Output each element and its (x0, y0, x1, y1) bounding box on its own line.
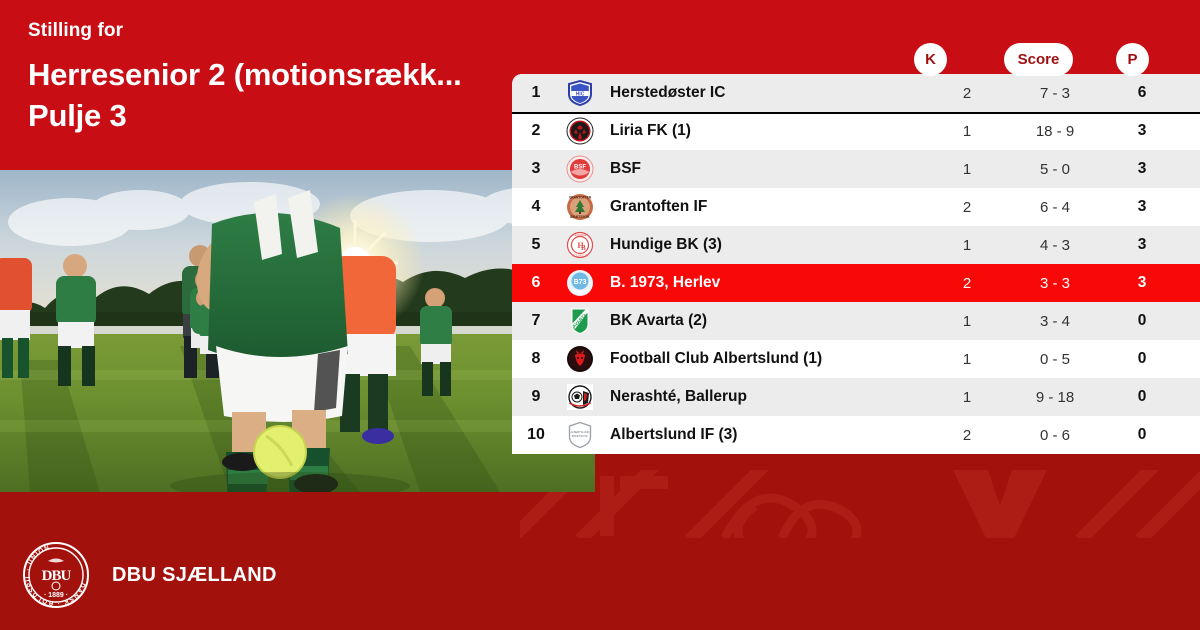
row-position: 3 (512, 160, 560, 178)
footer-bar: DANSK · BOLDSPIL · UNION · 1889 · DBU DB… (0, 520, 1200, 630)
bsf-crest-icon: BSF (560, 155, 600, 183)
column-header-p: P (1116, 43, 1149, 76)
row-points: 3 (1108, 198, 1176, 216)
headline-block: Stilling for Herresenior 2 (motionsrækk.… (28, 20, 548, 136)
football-match-photo (0, 170, 595, 492)
row-points: 0 (1108, 426, 1176, 444)
svg-text:HIC: HIC (576, 91, 585, 97)
page-title-line2: Pulje 3 (28, 95, 548, 136)
row-position: 9 (512, 388, 560, 406)
row-team-name: Hundige BK (3) (600, 236, 940, 254)
row-position: 4 (512, 198, 560, 216)
row-points: 3 (1108, 122, 1176, 140)
herstedoster-ic-crest-icon: HIC (560, 79, 600, 107)
row-score: 5 - 0 (1002, 161, 1108, 178)
row-team-name: Albertslund IF (3) (600, 426, 940, 444)
svg-text:IDRÆTSFOR.: IDRÆTSFOR. (572, 434, 589, 438)
footer-org-name: DBU SJÆLLAND (112, 564, 277, 587)
row-team-name: BK Avarta (2) (600, 312, 940, 330)
page-title-line1: Herresenior 2 (motionsrækk... (28, 54, 548, 95)
poster-canvas: Stilling for Herresenior 2 (motionsrækk.… (0, 0, 1200, 630)
row-matches: 2 (932, 199, 1002, 216)
row-score: 3 - 3 (1002, 275, 1108, 292)
row-matches: 1 (932, 313, 1002, 330)
kicker-text: Stilling for (28, 20, 548, 43)
svg-text:· 1889 ·: · 1889 · (44, 592, 68, 599)
row-points: 3 (1108, 274, 1176, 292)
row-points: 3 (1108, 160, 1176, 178)
row-position: 5 (512, 236, 560, 254)
table-row[interactable]: 1 HIC Herstedøster IC 2 7 - 3 6 (512, 74, 1200, 112)
svg-text:GRANTOFTEN: GRANTOFTEN (569, 196, 592, 200)
table-row[interactable]: 3 BSF BSF 1 5 - 0 3 (512, 150, 1200, 188)
row-team-name: Nerashté, Ballerup (600, 388, 940, 406)
table-row-highlighted[interactable]: 6 B73 B. 1973, Herlev 2 3 - 3 3 (512, 264, 1200, 302)
table-row[interactable]: 4 GRANTOFTEN IDRÆTSFOR. Grantoften IF 2 … (512, 188, 1200, 226)
svg-text:BOLDKLUB: BOLDKLUB (573, 254, 588, 258)
row-points: 3 (1108, 236, 1176, 254)
row-position: 10 (512, 426, 560, 444)
svg-text:IDRÆTSFOR.: IDRÆTSFOR. (570, 215, 590, 219)
row-score: 3 - 4 (1002, 313, 1108, 330)
row-matches: 1 (932, 161, 1002, 178)
row-score: 4 - 3 (1002, 237, 1108, 254)
dbu-logo-icon: DANSK · BOLDSPIL · UNION · 1889 · DBU (22, 541, 90, 609)
table-row[interactable]: 2 Liria FK (1) 1 18 - 9 3 (512, 112, 1200, 150)
table-row[interactable]: 5 H B HUNDIGE BOLDKLUB Hundige BK (3) 1 … (512, 226, 1200, 264)
liria-fk-crest-icon (560, 117, 600, 145)
albertslund-if-crest-icon: ALBERTSLUND IDRÆTSFOR. (560, 421, 600, 449)
table-row[interactable]: 10 ALBERTSLUND IDRÆTSFOR. Albertslund IF… (512, 416, 1200, 454)
row-team-name: Football Club Albertslund (1) (600, 350, 940, 368)
row-matches: 1 (932, 351, 1002, 368)
row-matches: 2 (932, 85, 1002, 102)
row-score: 9 - 18 (1002, 389, 1108, 406)
standings-table: 1 HIC Herstedøster IC 2 7 - 3 6 2 (512, 74, 1200, 454)
table-row[interactable]: 8 Football Club Albertslund (1) 1 0 - 5 … (512, 340, 1200, 378)
svg-text:B73: B73 (574, 279, 587, 286)
row-team-name: Grantoften IF (600, 198, 940, 216)
svg-text:HUNDIGE: HUNDIGE (574, 233, 587, 237)
table-row[interactable]: 7 AVARTA BK Avarta (2) 1 3 - 4 0 (512, 302, 1200, 340)
svg-text:B: B (581, 244, 586, 252)
row-team-name: Herstedøster IC (600, 84, 940, 102)
row-points: 0 (1108, 312, 1176, 330)
row-points: 0 (1108, 350, 1176, 368)
row-score: 0 - 6 (1002, 427, 1108, 444)
row-score: 0 - 5 (1002, 351, 1108, 368)
grantoften-if-crest-icon: GRANTOFTEN IDRÆTSFOR. (560, 193, 600, 221)
row-position: 7 (512, 312, 560, 330)
hundige-bk-crest-icon: H B HUNDIGE BOLDKLUB (560, 231, 600, 259)
row-score: 6 - 4 (1002, 199, 1108, 216)
row-matches: 1 (932, 237, 1002, 254)
row-matches: 1 (932, 123, 1002, 140)
table-row[interactable]: 9 Nerashté, Ballerup 1 9 - 18 0 (512, 378, 1200, 416)
row-matches: 2 (932, 275, 1002, 292)
row-points: 0 (1108, 388, 1176, 406)
svg-text:ALBERTSLUND: ALBERTSLUND (571, 430, 590, 434)
row-points: 6 (1108, 84, 1176, 102)
row-score: 18 - 9 (1002, 123, 1108, 140)
row-matches: 1 (932, 389, 1002, 406)
column-header-k: K (914, 43, 947, 76)
row-matches: 2 (932, 427, 1002, 444)
bk-avarta-crest-icon: AVARTA (560, 307, 600, 335)
fc-albertslund-crest-icon (560, 345, 600, 373)
row-position: 8 (512, 350, 560, 368)
svg-text:BSF: BSF (574, 165, 586, 171)
b1973-herlev-crest-icon: B73 (560, 269, 600, 297)
column-header-score: Score (1004, 43, 1073, 76)
row-position: 6 (512, 274, 560, 292)
row-team-name: BSF (600, 160, 940, 178)
nerashte-ballerup-crest-icon (560, 383, 600, 411)
row-team-name: B. 1973, Herlev (600, 274, 940, 292)
row-team-name: Liria FK (1) (600, 122, 940, 140)
row-score: 7 - 3 (1002, 85, 1108, 102)
